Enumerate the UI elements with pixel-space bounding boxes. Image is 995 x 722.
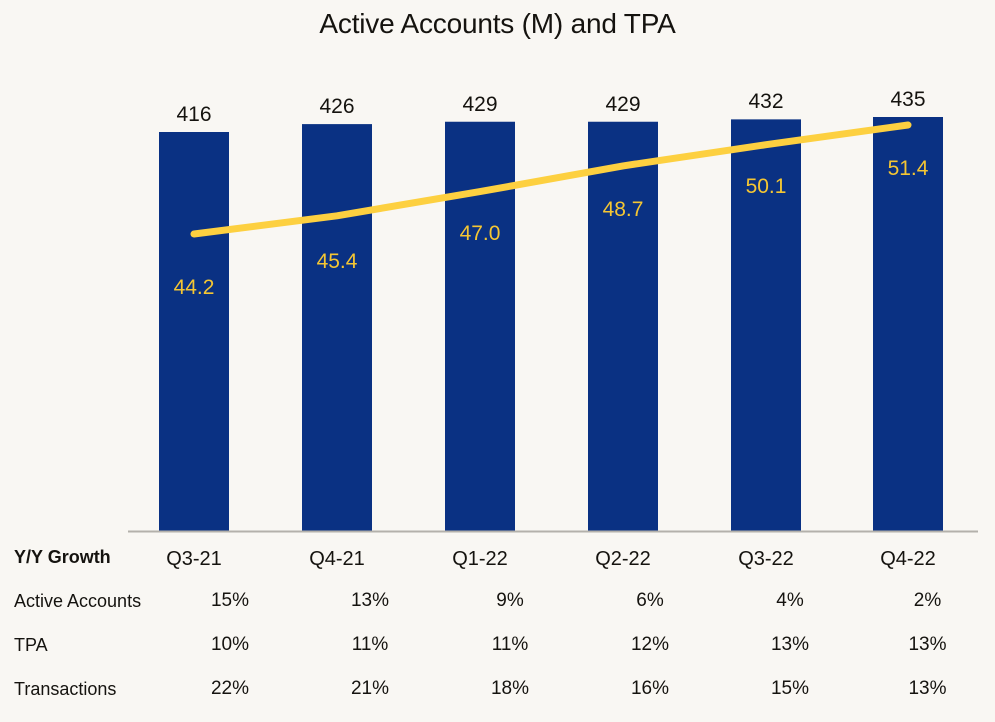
- bar-value-label: 429: [573, 93, 673, 117]
- table-cell: 9%: [440, 579, 580, 623]
- table-cell: 4%: [720, 579, 860, 623]
- bar-value-label: 426: [287, 95, 387, 119]
- table-row-label: Active Accounts: [0, 579, 160, 623]
- growth-table-element: Y/Y GrowthQ3-21Q4-21Q1-22Q2-22Q3-22Q4-22…: [0, 535, 995, 711]
- line-value-label: 50.1: [716, 175, 816, 199]
- table-cell: 11%: [300, 623, 440, 667]
- bar: [588, 122, 658, 531]
- table-column-header: Q2-22: [580, 535, 720, 579]
- chart-canvas: [0, 0, 995, 535]
- plot-area: 416426429429432435 44.245.447.048.750.15…: [0, 0, 995, 535]
- table-column-header: Q3-21: [160, 535, 300, 579]
- table-cell: 13%: [720, 623, 860, 667]
- table-cell: 22%: [160, 667, 300, 711]
- line-value-label: 44.2: [144, 276, 244, 300]
- bar-value-label: 432: [716, 90, 816, 114]
- table-cell: 10%: [160, 623, 300, 667]
- line-value-label: 48.7: [573, 198, 673, 222]
- line-value-label: 45.4: [287, 250, 387, 274]
- chart-root: Active Accounts (M) and TPA 416426429429…: [0, 0, 995, 722]
- table-cell: 16%: [580, 667, 720, 711]
- table-cell: 12%: [580, 623, 720, 667]
- table-row: Transactions22%21%18%16%15%13%: [0, 667, 995, 711]
- table-row: Active Accounts15%13%9%6%4%2%: [0, 579, 995, 623]
- line-value-label: 51.4: [858, 157, 958, 181]
- table-column-header: Q4-21: [300, 535, 440, 579]
- bar-value-label: 429: [430, 93, 530, 117]
- table-cell: 13%: [860, 667, 995, 711]
- table-row: Y/Y GrowthQ3-21Q4-21Q1-22Q2-22Q3-22Q4-22: [0, 535, 995, 579]
- table-cell: 13%: [860, 623, 995, 667]
- table-column-header: Q4-22: [860, 535, 995, 579]
- bar: [302, 124, 372, 531]
- bar: [445, 122, 515, 531]
- table-row: TPA10%11%11%12%13%13%: [0, 623, 995, 667]
- table-title: Y/Y Growth: [0, 535, 160, 579]
- bar-value-label: 416: [144, 103, 244, 127]
- table-cell: 13%: [300, 579, 440, 623]
- table-column-header: Q1-22: [440, 535, 580, 579]
- bar: [159, 132, 229, 531]
- table-cell: 2%: [860, 579, 995, 623]
- table-cell: 21%: [300, 667, 440, 711]
- table-cell: 15%: [160, 579, 300, 623]
- table-row-label: TPA: [0, 623, 160, 667]
- table-column-header: Q3-22: [720, 535, 860, 579]
- table-row-label: Transactions: [0, 667, 160, 711]
- line-value-label: 47.0: [430, 222, 530, 246]
- table-cell: 6%: [580, 579, 720, 623]
- bar-value-label: 435: [858, 88, 958, 112]
- table-cell: 18%: [440, 667, 580, 711]
- growth-table: Y/Y GrowthQ3-21Q4-21Q1-22Q2-22Q3-22Q4-22…: [0, 535, 995, 711]
- table-cell: 11%: [440, 623, 580, 667]
- table-cell: 15%: [720, 667, 860, 711]
